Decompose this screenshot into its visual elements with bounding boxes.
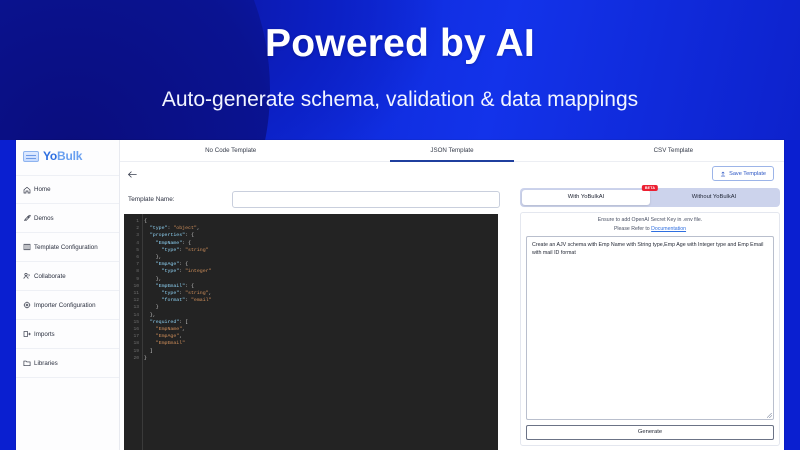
sidebar-item-label: Libraries [34,360,58,367]
sidebar-item-imports[interactable]: Imports [16,320,119,349]
line-number: 10 [124,283,142,290]
tab-json-template[interactable]: JSON Template [341,140,562,162]
segment-with-yobulkai[interactable]: With YoBulkAI [522,190,650,205]
sidebar-item-label: Imports [34,331,55,338]
people-icon [23,272,31,280]
documentation-note-prefix: Please Refer to [614,226,651,232]
line-number: 7 [124,261,142,268]
sidebar-item-collaborate[interactable]: Collaborate [16,262,119,291]
line-number: 15 [124,319,142,326]
sidebar-item-label: Template Configuration [34,244,98,251]
documentation-link[interactable]: Documentation [651,226,686,232]
template-name-label: Template Name: [128,196,175,203]
ai-prompt-text: Create an AJV schema with Emp Name with … [532,242,763,256]
documentation-note: Please Refer to Documentation [526,226,774,232]
line-number: 12 [124,297,142,304]
segment-without-yobulkai[interactable]: Without YoBulkAI [650,190,778,205]
resize-handle-icon[interactable] [767,413,772,418]
columns-icon [23,243,31,251]
line-number: 14 [124,312,142,319]
beta-badge: BETA [642,185,658,191]
app-logo[interactable]: YoBulk [16,140,119,163]
line-number: 16 [124,326,142,333]
main-content: No Code Template JSON Template CSV Templ… [120,140,784,450]
line-number: 8 [124,268,142,275]
app-window: YoBulk Home Demos [16,140,784,450]
line-number: 17 [124,333,142,340]
logo-text-yo: Yo [43,149,57,163]
line-number: 20 [124,355,142,362]
line-number: 19 [124,348,142,355]
line-number: 5 [124,247,142,254]
upload-icon [720,171,726,177]
sidebar-nav: Home Demos Template Configuration [16,175,119,378]
sidebar-item-libraries[interactable]: Libraries [16,349,119,378]
ai-panel: With YoBulkAI Without YoBulkAI BETA Ensu… [520,188,780,446]
sidebar-item-demos[interactable]: Demos [16,204,119,233]
sidebar-item-label: Demos [34,215,54,222]
line-number: 18 [124,340,142,347]
sidebar-item-label: Home [34,186,51,193]
template-type-tabs: No Code Template JSON Template CSV Templ… [120,140,784,162]
card-lines-icon [23,151,39,162]
sidebar-item-home[interactable]: Home [16,175,119,204]
toolbar: Save Template [120,162,784,188]
ai-prompt-textarea[interactable]: Create an AJV schema with Emp Name with … [526,236,774,420]
template-name-input[interactable] [232,191,500,208]
folder-icon [23,359,31,367]
line-number: 1 [124,218,142,225]
line-number: 9 [124,276,142,283]
sidebar-item-importer-configuration[interactable]: Importer Configuration [16,291,119,320]
sidebar: YoBulk Home Demos [16,140,120,450]
line-number: 2 [124,225,142,232]
home-icon [23,186,31,194]
line-number: 11 [124,290,142,297]
hero-swirl-decoration [0,0,270,140]
template-name-row: Template Name: [120,188,514,214]
tab-no-code-template[interactable]: No Code Template [120,140,341,162]
editor-line-numbers: 1234567891011121314151617181920 [124,214,143,450]
line-number: 3 [124,232,142,239]
logo-text: YoBulk [43,149,82,163]
ai-mode-segmented-control: With YoBulkAI Without YoBulkAI BETA [520,188,780,207]
generate-button[interactable]: Generate [526,425,774,440]
save-template-label: Save Template [729,171,766,177]
hero-banner: Powered by AI Auto-generate schema, vali… [0,0,800,140]
line-number: 4 [124,240,142,247]
logo-text-bulk: Bulk [57,149,82,163]
openai-key-note: Ensure to add OpenAI Secret Key in .env … [526,217,774,223]
sidebar-item-label: Collaborate [34,273,66,280]
sidebar-item-template-configuration[interactable]: Template Configuration [16,233,119,262]
rocket-icon [23,214,31,222]
gear-icon [23,301,31,309]
hero-title: Powered by AI [0,22,800,66]
line-number: 6 [124,254,142,261]
line-number: 13 [124,304,142,311]
json-code-editor[interactable]: 1234567891011121314151617181920 { "type"… [124,214,498,450]
hero-subtitle: Auto-generate schema, validation & data … [0,88,800,112]
tab-csv-template[interactable]: CSV Template [563,140,784,162]
sidebar-item-label: Importer Configuration [34,302,96,309]
save-template-button[interactable]: Save Template [712,166,774,181]
arrow-left-icon[interactable] [127,169,138,180]
ai-panel-body: Ensure to add OpenAI Secret Key in .env … [520,212,780,446]
import-icon [23,330,31,338]
editor-code-content[interactable]: { "type": "object", "properties": { "Emp… [144,214,498,450]
